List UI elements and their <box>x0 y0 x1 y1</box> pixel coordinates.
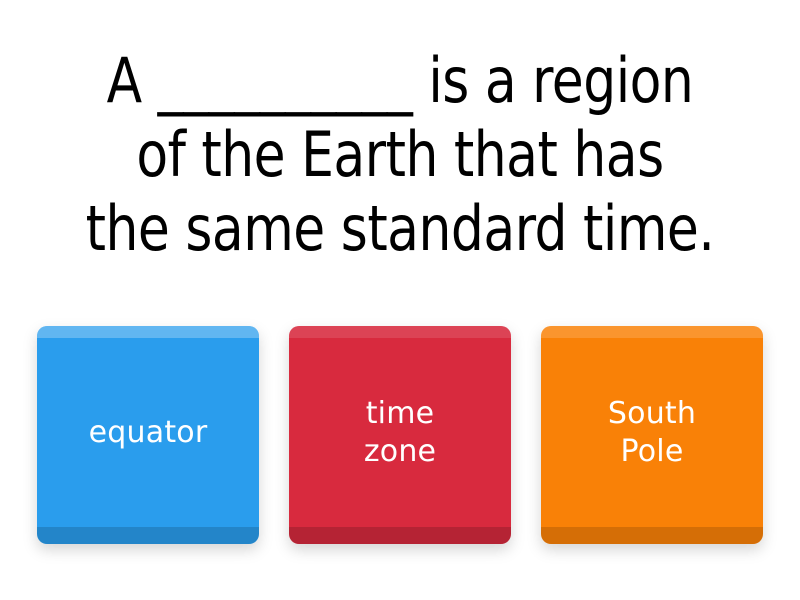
question-area: A __________ is a region of the Earth th… <box>0 44 800 284</box>
answer-option-1-label: equator <box>89 414 208 452</box>
answer-option-3-label: South Pole <box>608 395 696 471</box>
answer-options-row: equator time zone South Pole <box>0 326 800 558</box>
answer-option-3[interactable]: South Pole <box>541 326 763 544</box>
question-text: A __________ is a region of the Earth th… <box>47 44 754 266</box>
answer-option-2[interactable]: time zone <box>289 326 511 544</box>
answer-option-2-label: time zone <box>364 395 436 471</box>
quiz-stage: A __________ is a region of the Earth th… <box>0 0 800 600</box>
answer-option-1[interactable]: equator <box>37 326 259 544</box>
